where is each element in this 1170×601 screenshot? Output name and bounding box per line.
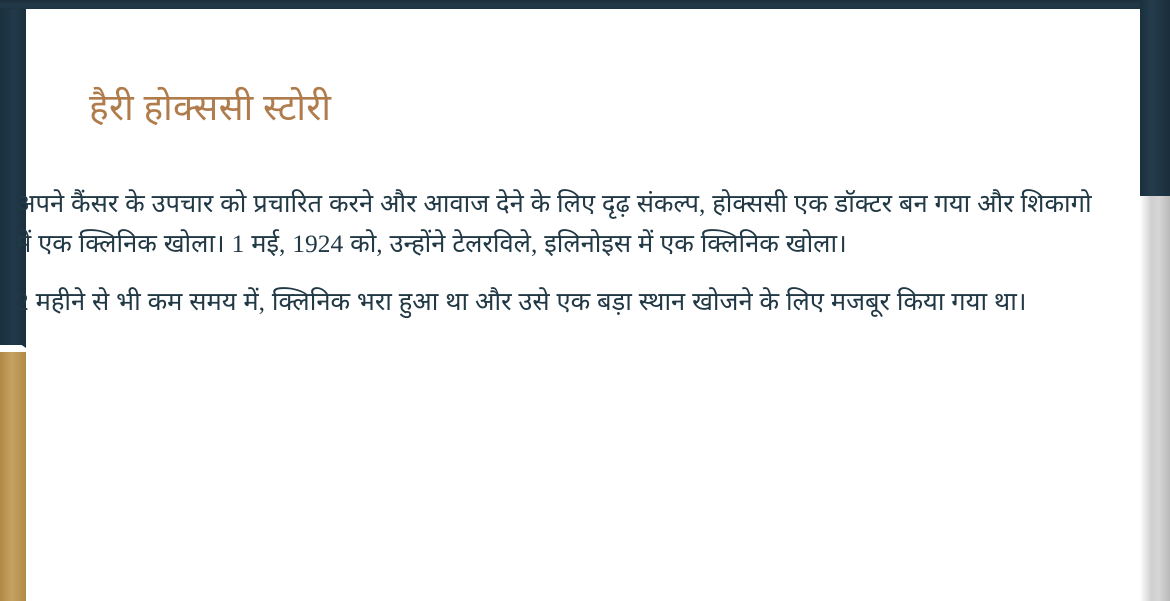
slide-canvas: हैरी होक्ससी स्टोरी अपने कैंसर के उपचार … [0,0,1170,601]
body-paragraph: अपने कैंसर के उपचार को प्रचारित करने और … [16,184,1108,264]
left-band-gold-segment [0,352,26,601]
top-accent-strip [0,0,1170,9]
right-accent-band [1140,0,1170,601]
right-band-navy-segment [1140,0,1170,200]
body-paragraph: 2 महीने से भी कम समय में, क्लिनिक भरा हु… [16,282,1108,322]
slide-title: हैरी होक्ससी स्टोरी [89,86,331,132]
slide-body: अपने कैंसर के उपचार को प्रचारित करने और … [16,184,1108,322]
right-band-grey-segment [1140,196,1170,601]
